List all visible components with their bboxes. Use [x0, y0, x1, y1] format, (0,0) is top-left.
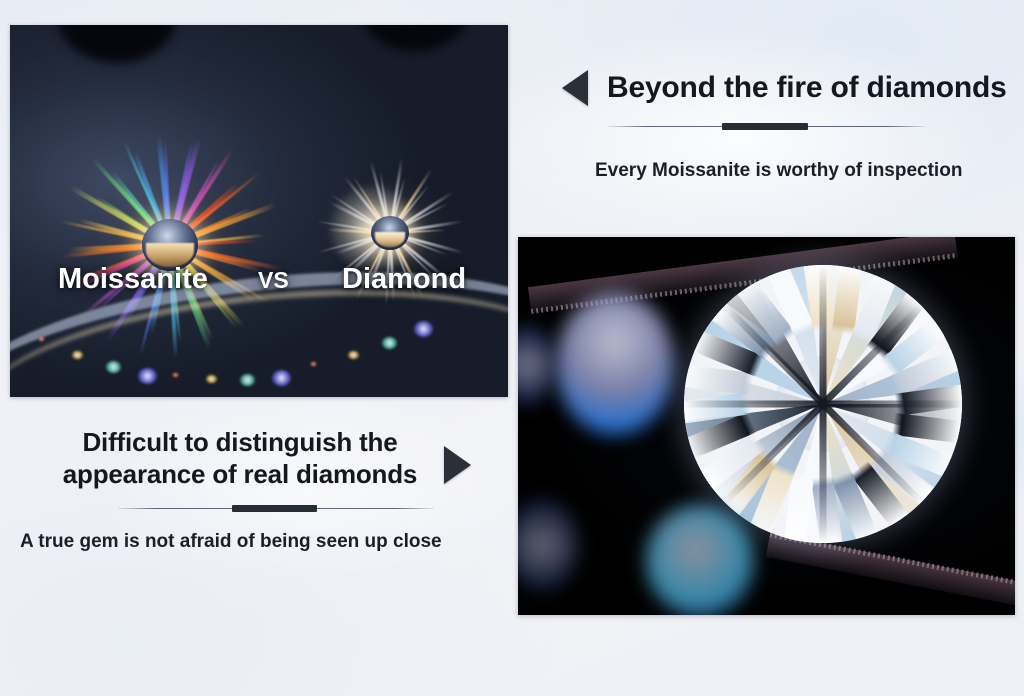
band-sparkle	[172, 373, 179, 377]
label-diamond: Diamond	[342, 263, 466, 296]
band-sparkle	[382, 337, 397, 349]
band-sparkle	[38, 337, 45, 341]
right-subcaption: Every Moissanite is worthy of inspection	[595, 160, 962, 182]
moissanite-vs-diamond-photo: Moissanite VS Diamond	[10, 25, 508, 397]
diamond-star-ray	[684, 401, 823, 408]
left-divider	[118, 504, 434, 513]
triangle-left-icon	[562, 70, 588, 106]
band-sparkle	[310, 362, 317, 366]
diamond-star-ray	[823, 401, 962, 408]
band-sparkle	[72, 351, 83, 359]
triangle-right-icon	[444, 446, 471, 484]
band-sparkle	[348, 351, 359, 359]
bokeh-spot	[646, 505, 754, 615]
label-versus: VS	[258, 267, 289, 294]
band-sparkle	[138, 368, 157, 384]
diamond-photo	[518, 237, 1015, 615]
diamond-star-ray	[820, 404, 827, 543]
left-headline: Difficult to distinguish the appearance …	[50, 426, 430, 490]
right-divider	[608, 122, 926, 131]
label-moissanite: Moissanite	[58, 263, 208, 296]
right-headline: Beyond the fire of diamonds	[607, 68, 1007, 108]
band-sparkle	[272, 370, 291, 386]
comparison-labels: Moissanite VS Diamond	[10, 263, 508, 307]
band-sparkle	[106, 361, 121, 373]
band-sparkle	[414, 321, 433, 337]
bokeh-spot	[556, 293, 674, 435]
diamond-star-ray	[820, 265, 827, 404]
band-sparkle	[240, 374, 255, 386]
promo-banner: Moissanite VS Diamond Beyond the fire of…	[0, 0, 1024, 696]
divider-center-bar	[232, 505, 317, 512]
diamond-gem	[371, 216, 409, 250]
divider-center-bar	[722, 123, 808, 130]
band-sparkle	[206, 375, 217, 383]
brilliant-cut-diamond	[684, 265, 962, 543]
left-subcaption: A true gem is not afraid of being seen u…	[20, 531, 442, 553]
